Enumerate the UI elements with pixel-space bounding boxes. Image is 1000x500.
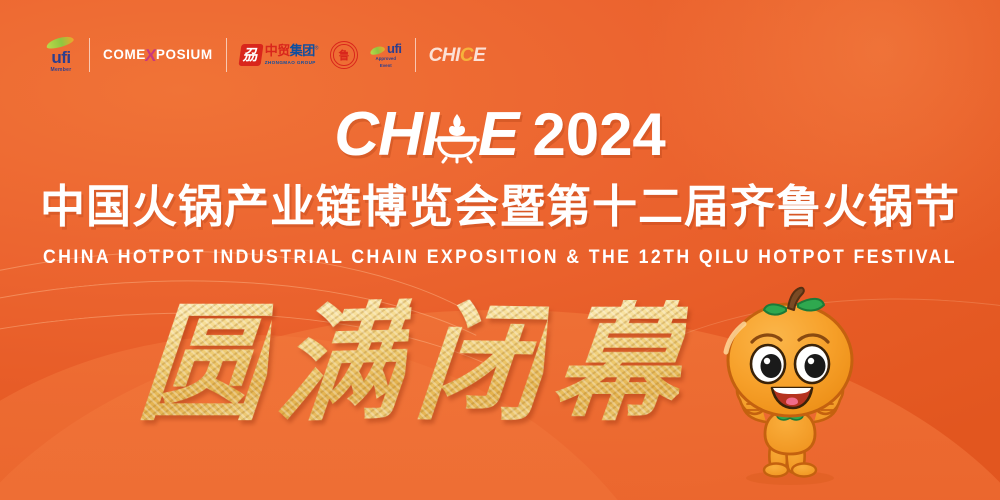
calligraphy-char: 闭 (411, 299, 550, 429)
zhongmao-chinese-red: 中贸 (265, 44, 290, 59)
zhongmao-group-logo: 刕 中贸集团® ZHONGMAO GROUP (240, 44, 318, 66)
main-title: CHI E2024 (0, 104, 1000, 166)
ufi-member-wordmark: ufi (51, 49, 70, 66)
calligraphy-char: 幕 (547, 300, 688, 428)
english-subtitle: CHINA HOTPOT INDUSTRIAL CHAIN EXPOSITION… (35, 248, 965, 267)
orange-mascot (700, 282, 880, 487)
title-year: 2024 (532, 105, 665, 165)
ufi-swoosh-icon (46, 36, 76, 48)
seal-glyph: 鲁 (338, 50, 349, 61)
mascot-leaf-right (798, 299, 824, 311)
ufi-member-logo: ufi Member (46, 36, 76, 74)
mascot-foot-right (792, 464, 816, 477)
zhongmao-mark-icon: 刕 (238, 44, 263, 66)
zhongmao-chinese-blue: 集团 (290, 44, 315, 59)
chice-wordmark-small: CHICE (429, 46, 486, 65)
logo-divider (89, 38, 90, 72)
ufi-approved-swoosh-icon (370, 46, 386, 55)
mascot-leaf-left (764, 304, 786, 314)
comexposium-part2: POSIUM (156, 48, 213, 62)
brand-chi: CHI (334, 104, 438, 166)
mascot-foot-left (764, 464, 788, 477)
comexposium-part1: COME (103, 48, 146, 62)
comexposium-logo: COMEXPOSIUM (103, 47, 213, 64)
brand-e: E (478, 104, 518, 166)
ufi-approved-wordmark: ufi (387, 42, 402, 55)
mascot-pupil-left (761, 354, 782, 378)
hotpot-icon (432, 106, 482, 164)
mascot-pupil-right (805, 354, 826, 378)
logo-divider (415, 38, 416, 72)
mascot-eye-glint-right (808, 358, 814, 364)
chice-small-after: E (473, 45, 485, 66)
logo-divider (226, 38, 227, 72)
calligraphy-char: 满 (272, 298, 413, 429)
event-banner: ufi Member COMEXPOSIUM 刕 中贸集团® ZHONGMAO … (0, 0, 1000, 500)
sponsor-logo-bar: ufi Member COMEXPOSIUM 刕 中贸集团® ZHONGMAO … (46, 30, 485, 80)
comexposium-x-icon: X (144, 47, 158, 64)
chice-small-before: CHI (429, 45, 460, 66)
chinese-headline: 中国火锅产业链博览会暨第十二届齐鲁火锅节 (0, 182, 1000, 232)
calligraphy-char: 圆 (134, 300, 273, 428)
calligraphy-headline: 圆 满 闭 幕 (140, 300, 682, 428)
ufi-member-tagline: Member (51, 67, 72, 74)
mascot-eye-glint-left (764, 358, 770, 364)
registered-mark: ® (315, 46, 318, 52)
circular-seal-logo: 鲁 (330, 41, 358, 69)
zhongmao-english: ZHONGMAO GROUP (265, 60, 318, 66)
ufi-approved-tagline-2: Event (380, 63, 392, 69)
ufi-approved-tagline-1: Approved (376, 56, 397, 62)
chice-small-pot-icon: C (460, 45, 473, 66)
ufi-approved-event-logo: ufi Approved Event (370, 42, 402, 68)
